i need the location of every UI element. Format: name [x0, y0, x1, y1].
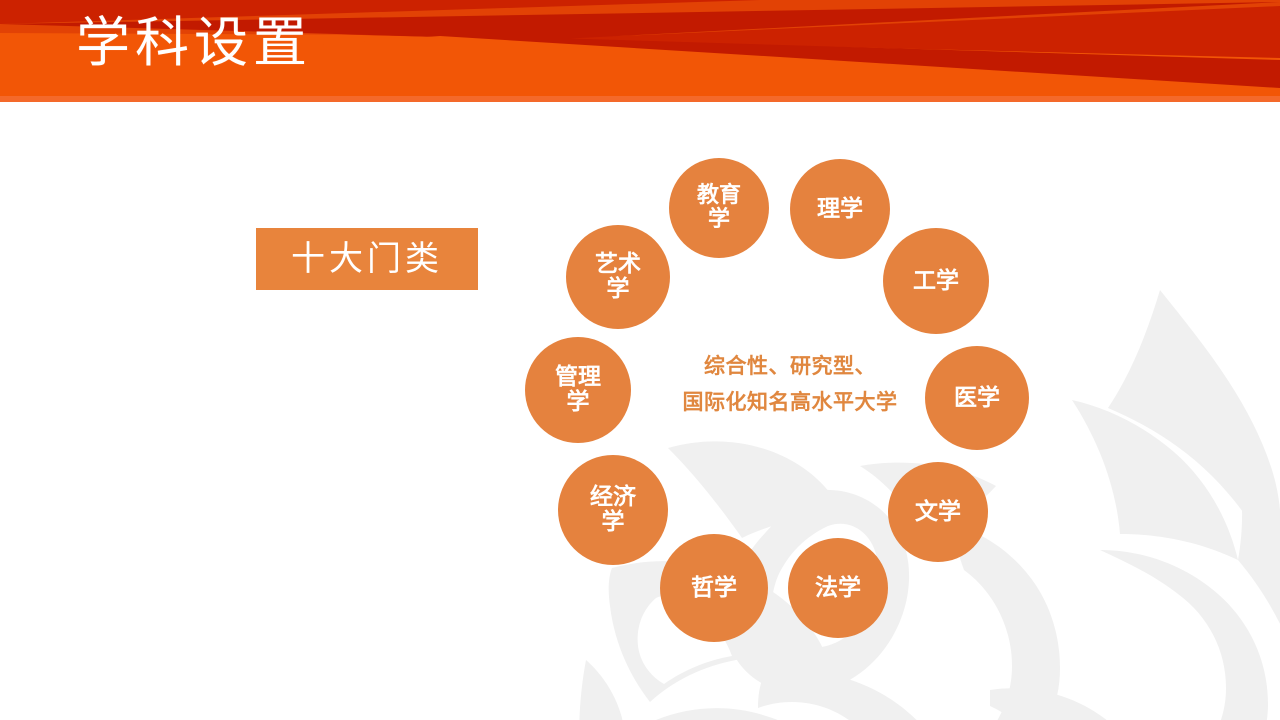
discipline-circle-label: 经济 学 — [590, 485, 636, 535]
center-tagline-line-2: 国际化知名高水平大学 — [640, 384, 940, 420]
discipline-circle-label: 工学 — [913, 269, 959, 294]
banner-bottom-strip — [0, 96, 1280, 102]
discipline-circle-label: 理学 — [817, 197, 863, 222]
discipline-circle-理学[interactable]: 理学 — [790, 159, 890, 259]
discipline-circle-文学[interactable]: 文学 — [888, 462, 988, 562]
discipline-circle-教育学[interactable]: 教育 学 — [669, 158, 769, 258]
center-tagline-line-1: 综合性、研究型、 — [640, 348, 940, 384]
discipline-circle-label: 管理 学 — [555, 365, 601, 415]
discipline-circle-艺术学[interactable]: 艺术 学 — [566, 225, 670, 329]
discipline-circle-label: 文学 — [915, 500, 961, 525]
discipline-circle-label: 哲学 — [691, 576, 737, 601]
discipline-circle-哲学[interactable]: 哲学 — [660, 534, 768, 642]
category-label-box: 十大门类 — [256, 228, 478, 290]
category-label-text: 十大门类 — [291, 240, 443, 278]
discipline-circle-工学[interactable]: 工学 — [883, 228, 989, 334]
discipline-circle-label: 医学 — [954, 386, 1000, 411]
discipline-circle-label: 法学 — [815, 576, 861, 601]
discipline-circle-法学[interactable]: 法学 — [788, 538, 888, 638]
page-title: 学科设置 — [76, 11, 312, 75]
discipline-circle-label: 教育 学 — [697, 184, 741, 232]
discipline-circle-label: 艺术 学 — [595, 252, 641, 302]
slide-canvas: 学科设置 十大门类 教育 学理学工学医学文学法学哲学经济 学管理 学艺术 学 综… — [0, 0, 1280, 720]
discipline-circle-经济学[interactable]: 经济 学 — [558, 455, 668, 565]
center-tagline: 综合性、研究型、 国际化知名高水平大学 — [640, 348, 940, 420]
discipline-circle-管理学[interactable]: 管理 学 — [525, 337, 631, 443]
header-banner: 学科设置 — [0, 0, 1280, 102]
discipline-circle-医学[interactable]: 医学 — [925, 346, 1029, 450]
